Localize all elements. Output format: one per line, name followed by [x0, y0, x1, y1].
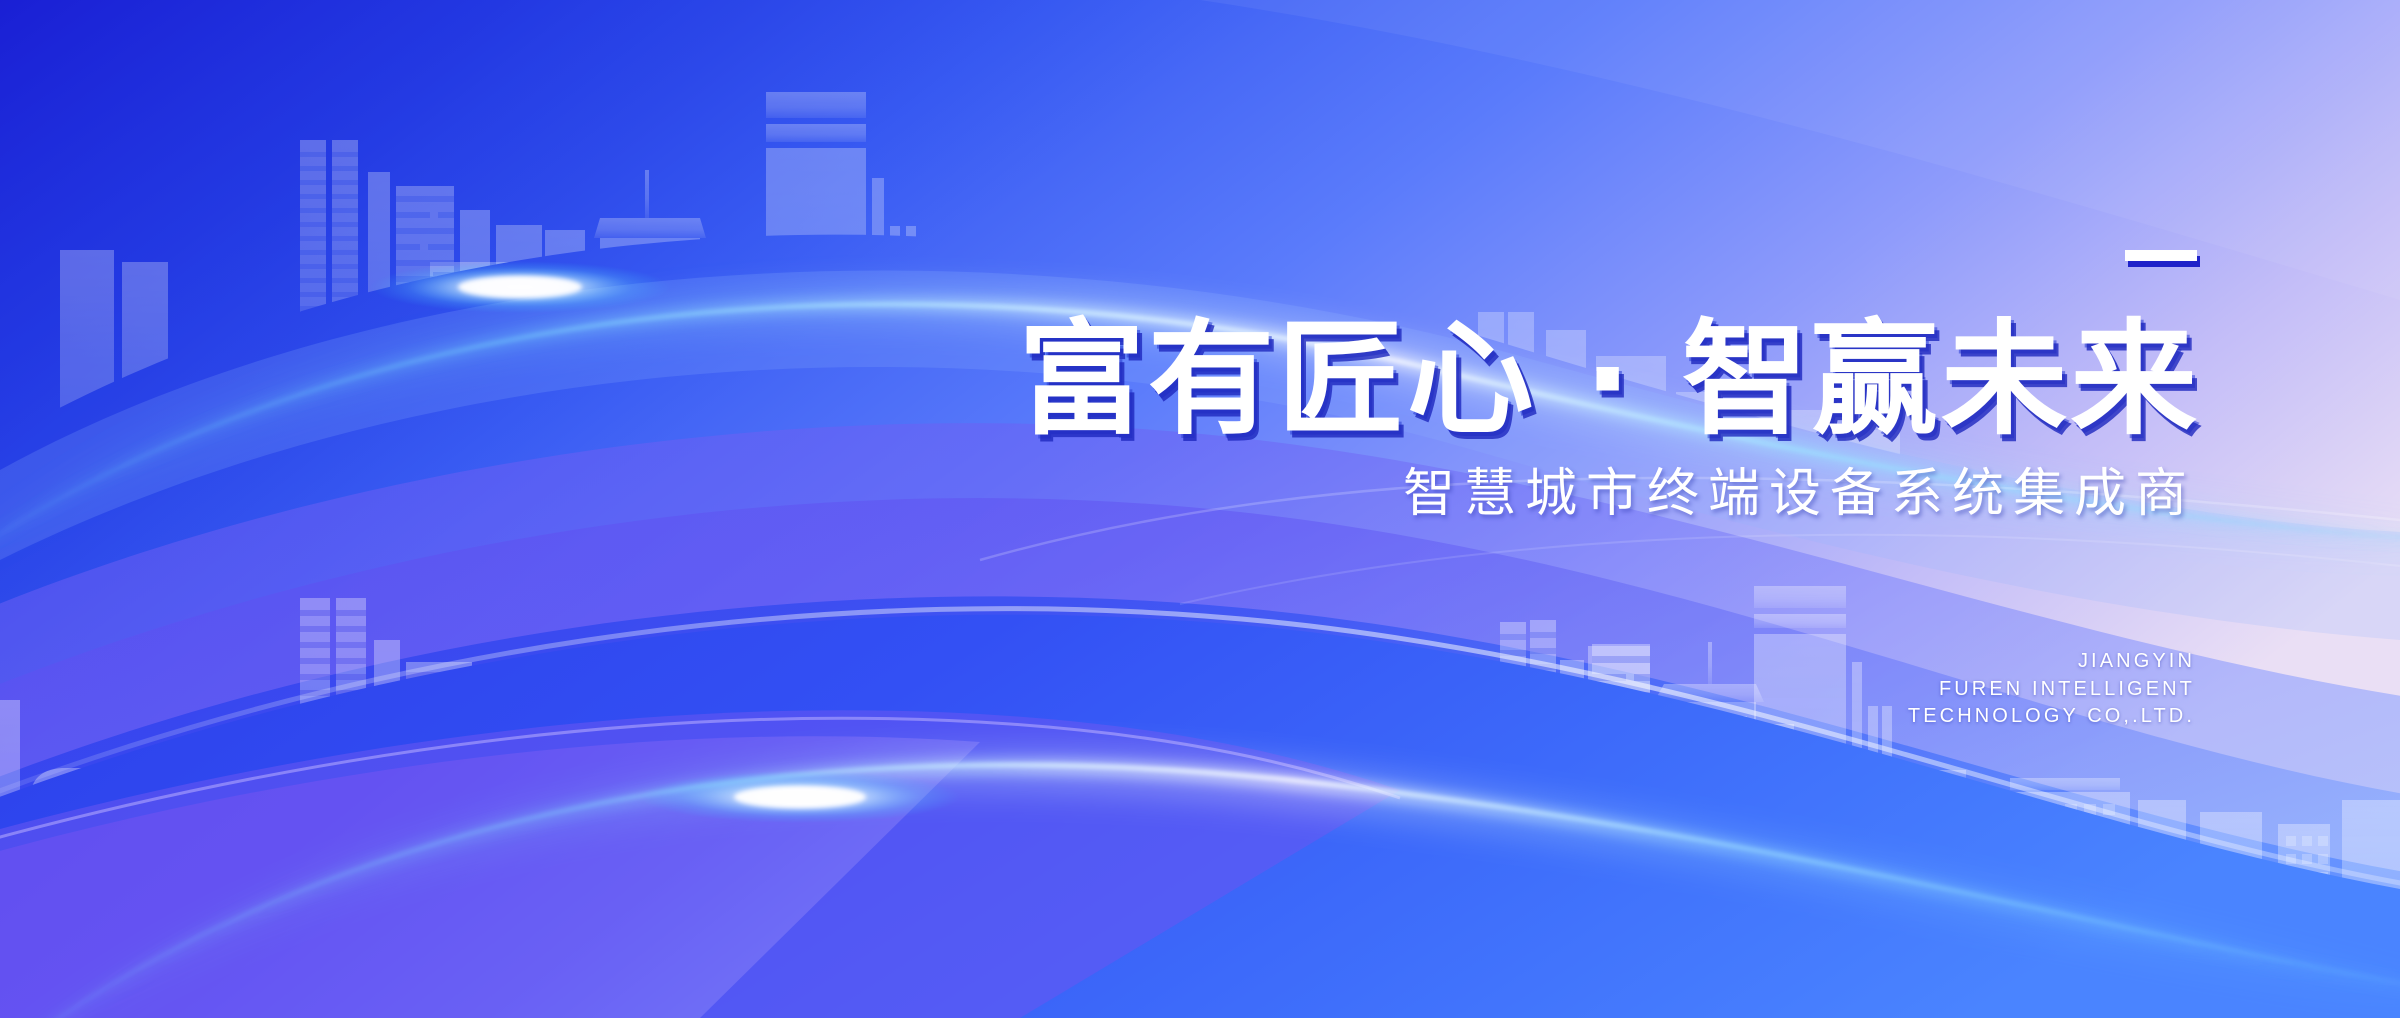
promotional-banner: 富有匠心 · 智赢未来 智慧城市终端设备系统集成商 JIANGYIN FUREN…: [0, 0, 2400, 1018]
company-name-block: JIANGYIN FUREN INTELLIGENT TECHNOLOGY CO…: [1555, 648, 2195, 731]
company-line-name: FUREN INTELLIGENT: [1555, 676, 2195, 704]
company-line-city: JIANGYIN: [1555, 648, 2195, 676]
headline-block: 富有匠心 · 智赢未来 智慧城市终端设备系统集成商: [880, 250, 2200, 520]
page-subtitle: 智慧城市终端设备系统集成商: [880, 468, 2200, 520]
company-line-suffix: TECHNOLOGY CO,.LTD.: [1555, 703, 2195, 731]
accent-dash-icon: [2125, 250, 2197, 261]
page-title: 富有匠心 · 智赢未来: [854, 318, 2200, 442]
